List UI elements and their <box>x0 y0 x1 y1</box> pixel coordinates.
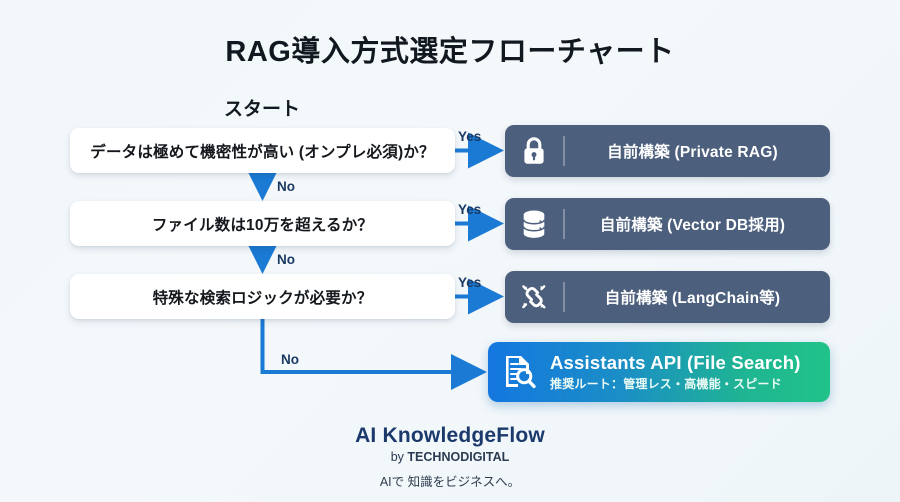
result-node-vector-db[interactable]: 自前構築 (Vector DB採用) <box>505 198 830 250</box>
edge-label-yes-3: Yes <box>458 275 481 290</box>
decision-node-1-label: データは極めて機密性が高い (オンプレ必須)か？ <box>90 140 434 162</box>
lock-icon <box>505 136 563 166</box>
result-node-assistants-api[interactable]: Assistants API (File Search) 推奨ルート：管理レス・… <box>488 342 830 402</box>
byline: by TECHNODIGITAL <box>0 450 900 464</box>
document-search-icon <box>488 353 550 391</box>
decision-node-2-label: ファイル数は10万を超えるか？ <box>152 213 373 235</box>
result-node-assistants-api-texts: Assistants API (File Search) 推奨ルート：管理レス・… <box>550 352 830 392</box>
result-node-private-rag-label: 自前構築 (Private RAG) <box>565 140 830 162</box>
result-node-langchain-label: 自前構築 (LangChain等) <box>565 286 830 308</box>
result-node-vector-db-label: 自前構築 (Vector DB採用) <box>565 213 830 235</box>
result-node-langchain[interactable]: 自前構築 (LangChain等) <box>505 271 830 323</box>
brand-name: AI KnowledgeFlow <box>0 424 900 448</box>
edge-label-no-2: No <box>277 252 295 267</box>
byline-prefix: by <box>391 450 408 464</box>
decision-node-3-label: 特殊な検索ロジックが必要か？ <box>153 286 373 308</box>
flowchart-canvas: RAG導入方式選定フローチャート スタート Yes Yes Yes No No … <box>0 0 900 502</box>
decision-node-2[interactable]: ファイル数は10万を超えるか？ <box>70 201 455 246</box>
tagline: AIで 知識をビジネスへ。 <box>0 471 900 490</box>
footer: AI KnowledgeFlow by TECHNODIGITAL AIで 知識… <box>0 424 900 490</box>
edge-label-yes-1: Yes <box>458 129 481 144</box>
edge-label-no-3: No <box>281 352 299 367</box>
result-node-assistants-api-subtitle: 推奨ルート：管理レス・高機能・スピード <box>550 375 818 392</box>
decision-node-3[interactable]: 特殊な検索ロジックが必要か？ <box>70 274 455 319</box>
database-icon <box>505 209 563 239</box>
edge-label-yes-2: Yes <box>458 202 481 217</box>
decision-node-1[interactable]: データは極めて機密性が高い (オンプレ必須)か？ <box>70 128 455 173</box>
chain-link-icon <box>505 281 563 313</box>
edge-label-no-1: No <box>277 179 295 194</box>
byline-company: TECHNODIGITAL <box>407 450 509 464</box>
result-node-assistants-api-title: Assistants API (File Search) <box>550 352 818 373</box>
result-node-private-rag[interactable]: 自前構築 (Private RAG) <box>505 125 830 177</box>
